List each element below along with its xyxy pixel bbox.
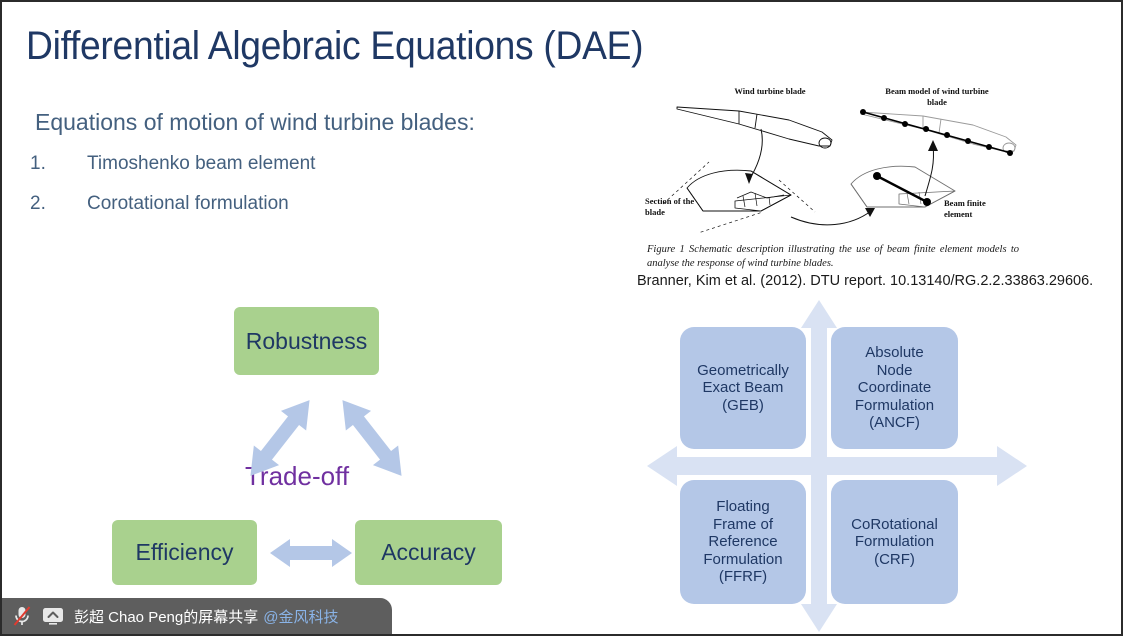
tradeoff-arrow-right-icon bbox=[332, 390, 412, 486]
quadrant-box-geb: GeometricallyExact Beam(GEB) bbox=[680, 327, 806, 449]
figure-caption: Figure 1 Schematic description illustrat… bbox=[647, 243, 1019, 271]
page-title: Differential Algebraic Equations (DAE) bbox=[26, 24, 643, 68]
list-item: 1.Timoshenko beam element bbox=[30, 153, 315, 175]
slide-canvas: Differential Algebraic Equations (DAE) E… bbox=[0, 0, 1123, 636]
quadrant-box-crf: CoRotationalFormulation(CRF) bbox=[831, 480, 958, 604]
screen-share-bar: 彭超 Chao Peng的屏幕共享 @金风科技 bbox=[2, 598, 392, 634]
quadrant-box-ancf: AbsoluteNodeCoordinateFormulation(ANCF) bbox=[831, 327, 958, 449]
tradeoff-box-robustness: Robustness bbox=[234, 307, 379, 375]
figure-citation: Branner, Kim et al. (2012). DTU report. … bbox=[637, 273, 1093, 289]
figure-label-section-of-blade: Section of the blade bbox=[645, 196, 707, 217]
list-item: 2.Corotational formulation bbox=[30, 193, 289, 215]
list-item-number: 2. bbox=[30, 193, 87, 215]
screen-share-icon[interactable] bbox=[42, 607, 64, 625]
tradeoff-box-efficiency: Efficiency bbox=[112, 520, 257, 585]
tradeoff-arrow-left-icon bbox=[240, 390, 320, 486]
quadrant-box-ffrf: FloatingFrame ofReferenceFormulation(FFR… bbox=[680, 480, 806, 604]
list-item-label: Corotational formulation bbox=[87, 193, 289, 214]
list-item-number: 1. bbox=[30, 153, 87, 175]
share-presenter-label: 彭超 Chao Peng的屏幕共享 bbox=[74, 606, 258, 627]
wind-turbine-figure: Wind turbine blade Beam model of wind tu… bbox=[639, 80, 1059, 240]
microphone-muted-icon[interactable] bbox=[12, 605, 32, 627]
formulation-quadrant-diagram: GeometricallyExact Beam(GEB) AbsoluteNod… bbox=[647, 300, 1027, 632]
figure-label-beam-finite-element: Beam finite element bbox=[944, 198, 1010, 219]
figure-label-beam-model: Beam model of wind turbine blade bbox=[882, 86, 992, 107]
share-org-label: @金风科技 bbox=[263, 606, 338, 627]
beam-nodes-icon bbox=[860, 109, 1013, 206]
figure-label-wind-turbine-blade: Wind turbine blade bbox=[715, 86, 825, 97]
tradeoff-box-accuracy: Accuracy bbox=[355, 520, 502, 585]
tradeoff-arrow-horizontal-icon bbox=[270, 535, 352, 571]
lead-text: Equations of motion of wind turbine blad… bbox=[35, 109, 475, 136]
list-item-label: Timoshenko beam element bbox=[87, 153, 315, 174]
